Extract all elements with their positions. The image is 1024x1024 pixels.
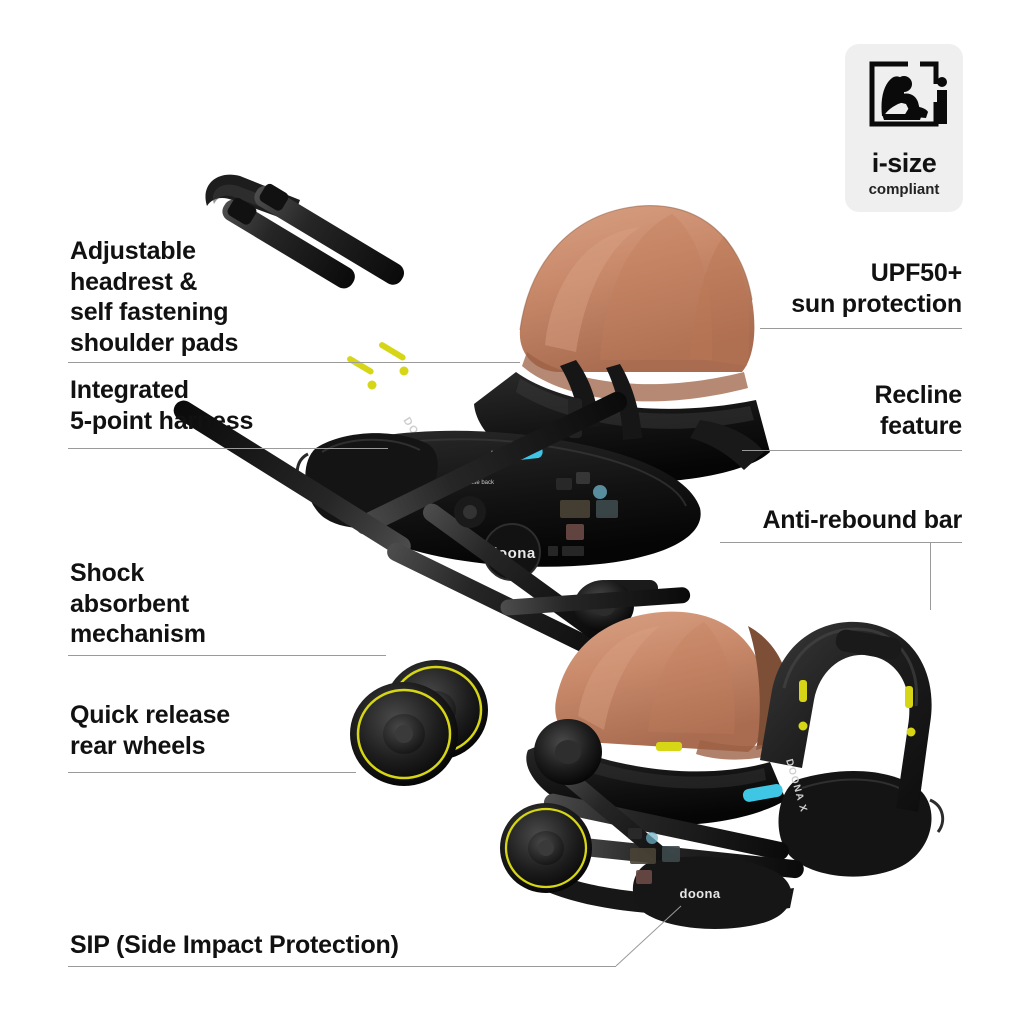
callout-quick-release-wheels: Quick release rear wheels — [70, 700, 230, 761]
i-size-compliant-badge: i-size compliant — [845, 44, 963, 212]
badge-subtitle: compliant — [869, 181, 940, 198]
callout-anti-rebound-bar: Anti-rebound bar — [602, 505, 962, 536]
child-in-car-seat-icon — [858, 58, 950, 138]
callout-recline-feature: Recline feature — [622, 380, 962, 441]
callout-adjustable-headrest: Adjustable headrest & self fastening sho… — [70, 236, 238, 358]
callout-integrated-harness: Integrated 5-point harness — [70, 375, 253, 436]
badge-title: i-size — [872, 148, 937, 179]
callout-side-impact-protection: SIP (Side Impact Protection) — [70, 930, 399, 961]
callout-shock-absorbent: Shock absorbent mechanism — [70, 558, 206, 650]
callout-upf50-sun-protection: UPF50+ sun protection — [622, 258, 962, 319]
infographic-stage: DOONA X — [0, 0, 1024, 1024]
